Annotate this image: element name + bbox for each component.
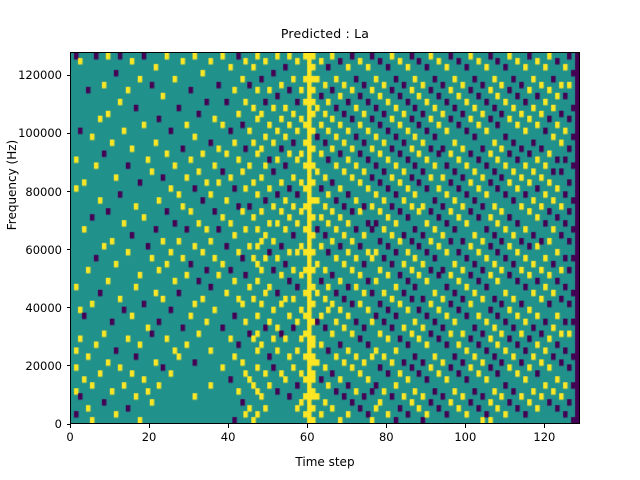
x-tick-mark [465, 424, 466, 428]
y-tick-label: 100000 [0, 126, 70, 140]
page-title: Predicted : La [70, 26, 580, 41]
x-tick-mark [228, 424, 229, 428]
y-tick-label: 120000 [0, 68, 70, 82]
y-tick-label: 40000 [0, 301, 70, 315]
heatmap-image [71, 53, 579, 423]
x-tick-mark [544, 424, 545, 428]
x-axis-label: Time step [70, 455, 580, 469]
x-tick-label: 120 [524, 430, 564, 444]
heatmap-axes[interactable] [70, 52, 580, 424]
x-tick-mark [386, 424, 387, 428]
x-tick-mark [149, 424, 150, 428]
x-tick-label: 0 [50, 430, 90, 444]
matplotlib-figure: Predicted : La Frequency (Hz) 0200004000… [0, 0, 640, 480]
y-tick-label: 60000 [0, 243, 70, 257]
y-tick-label: 20000 [0, 359, 70, 373]
x-tick-label: 80 [366, 430, 406, 444]
x-tick-label: 20 [129, 430, 169, 444]
y-tick-label: 80000 [0, 185, 70, 199]
x-tick-label: 60 [287, 430, 327, 444]
x-tick-mark [307, 424, 308, 428]
x-tick-mark [70, 424, 71, 428]
y-tick-label: 0 [0, 417, 70, 431]
x-axis-ticks: 020406080100120 [70, 424, 580, 454]
x-tick-label: 40 [208, 430, 248, 444]
y-axis-ticks: 020000400006000080000100000120000 [0, 52, 70, 424]
x-tick-label: 100 [445, 430, 485, 444]
